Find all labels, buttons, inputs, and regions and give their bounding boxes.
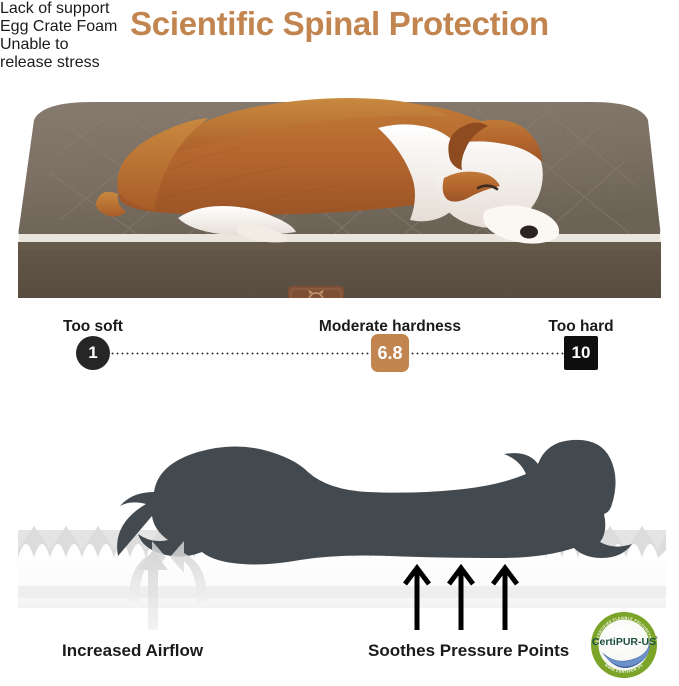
infographic-canvas: Scientific Spinal Protection — [0, 0, 679, 686]
caption-soothes-pressure-points: Soothes Pressure Points — [368, 641, 569, 661]
badge-main-text: CertiPUR-US — [592, 636, 656, 648]
product-photo — [0, 50, 679, 298]
scale-marker-1: 1 — [76, 336, 110, 370]
dog-silhouette — [117, 440, 632, 565]
scale-marker-10: 10 — [564, 336, 598, 370]
badge-registered-mark: ® — [655, 635, 658, 640]
foam-cross-section-diagram — [0, 418, 679, 633]
certipur-us-badge: CONTAINS CERTIFIED FLEXIBLE POLYURETHANE… — [575, 607, 673, 683]
scale-right-top-label: Too hard — [521, 318, 641, 336]
brand-tag — [288, 286, 344, 298]
scale-left-top-label: Too soft — [33, 318, 153, 336]
scale-marker-6-8: 6.8 — [371, 334, 409, 372]
scale-connector-line — [100, 352, 580, 355]
page-title: Scientific Spinal Protection — [0, 0, 679, 48]
caption-increased-airflow: Increased Airflow — [62, 641, 203, 661]
